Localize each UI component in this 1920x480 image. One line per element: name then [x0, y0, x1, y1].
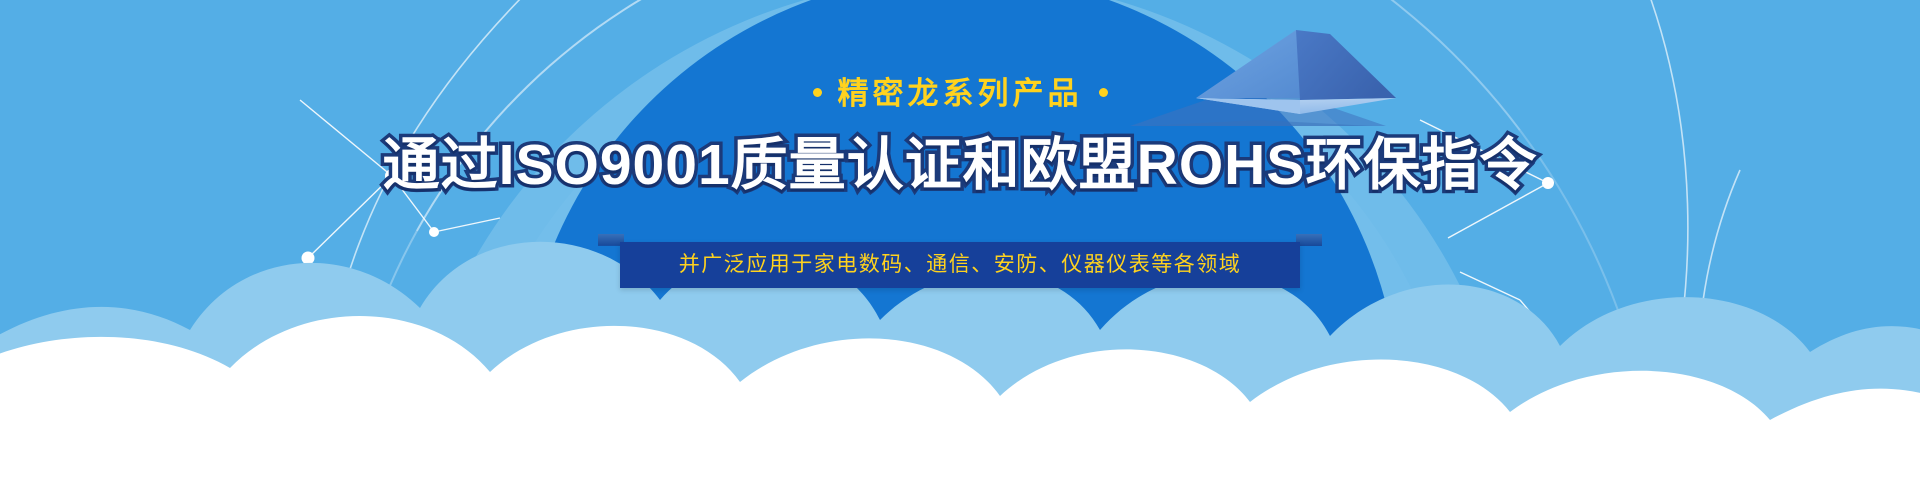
headline-text: 通过ISO9001质量认证和欧盟ROHS环保指令 — [383, 136, 1538, 196]
bullet-dot-right — [1099, 88, 1108, 97]
ribbon-text: 并广泛应用于家电数码、通信、安防、仪器仪表等各领域 — [679, 254, 1242, 275]
bullet-dot-left — [813, 88, 822, 97]
ribbon-banner: 并广泛应用于家电数码、通信、安防、仪器仪表等各领域 — [620, 234, 1300, 288]
promo-banner: 精密龙系列产品 通过ISO9001质量认证和欧盟ROHS环保指令 并广泛应用于家… — [0, 0, 1920, 480]
ribbon-body: 并广泛应用于家电数码、通信、安防、仪器仪表等各领域 — [620, 242, 1300, 288]
banner-content: 精密龙系列产品 通过ISO9001质量认证和欧盟ROHS环保指令 并广泛应用于家… — [0, 0, 1920, 480]
eyebrow-text: 精密龙系列产品 — [838, 76, 1083, 111]
eyebrow-line: 精密龙系列产品 — [797, 78, 1124, 109]
